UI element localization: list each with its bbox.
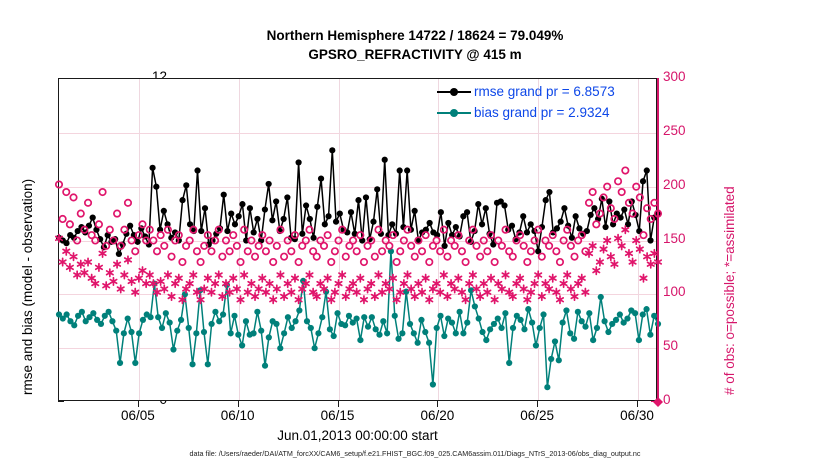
obs-assimilated-marker <box>88 274 94 281</box>
data-point <box>548 356 554 362</box>
data-point <box>373 326 379 332</box>
obs-assimilated-marker <box>637 245 643 252</box>
data-point <box>266 334 272 340</box>
obs-possible-marker <box>481 237 487 243</box>
data-point <box>460 330 466 336</box>
data-point <box>365 324 371 330</box>
data-point <box>353 315 359 321</box>
y-tick-label-right: 300 <box>663 69 723 84</box>
obs-assimilated-marker <box>415 280 421 287</box>
obs-possible-marker <box>604 183 610 189</box>
data-point <box>404 167 410 173</box>
obs-possible-marker <box>560 237 566 243</box>
data-point <box>216 318 222 324</box>
data-point <box>382 157 388 163</box>
data-point <box>121 330 127 336</box>
data-point <box>127 223 133 229</box>
obs-assimilated-marker <box>477 293 483 300</box>
data-point <box>262 363 268 369</box>
obs-assimilated-marker <box>339 271 345 278</box>
legend-item-rmse[interactable]: rmse grand pr = 6.8573 <box>437 82 615 101</box>
y-axis-label-left: rmse and bias (model - observation) <box>20 179 35 395</box>
obs-possible-marker <box>154 248 160 254</box>
data-point <box>561 205 567 211</box>
data-point <box>254 309 260 315</box>
obs-possible-marker <box>96 221 102 227</box>
data-point <box>106 309 112 315</box>
data-point <box>315 330 321 336</box>
obs-assimilated-marker <box>67 264 73 271</box>
obs-possible-marker <box>274 243 280 249</box>
data-point <box>186 325 192 331</box>
obs-possible-marker <box>557 259 563 265</box>
obs-assimilated-marker <box>644 253 650 260</box>
data-point <box>546 189 552 195</box>
data-point <box>296 307 302 313</box>
data-point <box>457 309 463 315</box>
data-point <box>533 342 539 348</box>
data-point <box>329 147 335 153</box>
obs-possible-marker <box>484 248 490 254</box>
data-point <box>647 237 653 243</box>
data-point <box>247 205 253 211</box>
obs-assimilated-marker <box>550 274 556 281</box>
data-point <box>136 330 142 336</box>
data-point <box>174 328 180 334</box>
obs-assimilated-marker <box>328 296 334 303</box>
obs-assimilated-marker <box>317 280 323 287</box>
data-point <box>296 159 302 165</box>
data-point <box>277 345 283 351</box>
obs-assimilated-marker <box>147 271 153 278</box>
data-point <box>79 309 85 315</box>
obs-assimilated-marker <box>78 260 84 267</box>
data-point <box>98 321 104 327</box>
obs-possible-marker <box>589 189 595 195</box>
obs-assimilated-marker <box>579 274 585 281</box>
obs-assimilated-marker <box>85 258 91 265</box>
data-point <box>537 325 543 331</box>
data-point <box>149 165 155 171</box>
obs-possible-marker <box>528 248 534 254</box>
obs-assimilated-marker <box>197 296 203 303</box>
obs-assimilated-marker <box>648 260 654 267</box>
obs-assimilated-marker <box>350 280 356 287</box>
y-axis-label-right: # of obs: o=possible; *=assimilated <box>722 186 737 395</box>
obs-possible-marker <box>270 259 276 265</box>
data-point <box>415 340 421 346</box>
obs-possible-marker <box>520 243 526 249</box>
obs-assimilated-marker <box>426 296 432 303</box>
obs-assimilated-marker <box>346 285 352 292</box>
x-tick-label: 06/05 <box>103 408 173 423</box>
x-tick-label: 06/15 <box>303 408 373 423</box>
obs-assimilated-marker <box>397 288 403 295</box>
data-point <box>310 235 316 241</box>
data-point <box>483 205 489 211</box>
obs-assimilated-marker <box>571 293 577 300</box>
obs-assimilated-marker <box>157 278 163 285</box>
data-point <box>594 325 600 331</box>
obs-assimilated-marker <box>401 280 407 287</box>
data-point <box>395 336 401 342</box>
data-point <box>449 320 455 326</box>
obs-possible-marker <box>412 253 418 259</box>
obs-assimilated-marker <box>484 288 490 295</box>
data-point <box>370 219 376 225</box>
obs-assimilated-marker <box>125 256 131 263</box>
obs-assimilated-marker <box>161 285 167 292</box>
data-point <box>576 225 582 231</box>
obs-assimilated-marker <box>128 278 134 285</box>
obs-possible-marker <box>539 253 545 259</box>
obs-assimilated-marker <box>212 280 218 287</box>
obs-possible-marker <box>452 243 458 249</box>
data-point <box>239 201 245 207</box>
obs-assimilated-marker <box>524 296 530 303</box>
obs-assimilated-marker <box>357 274 363 281</box>
obs-assimilated-marker <box>186 280 192 287</box>
obs-assimilated-marker <box>292 274 298 281</box>
data-point <box>273 321 279 327</box>
obs-possible-marker <box>150 237 156 243</box>
obs-possible-marker <box>70 194 76 200</box>
obs-possible-marker <box>245 248 251 254</box>
data-point <box>193 330 199 336</box>
data-point <box>498 325 504 331</box>
data-point <box>161 208 167 214</box>
data-point <box>363 194 369 200</box>
data-point <box>569 235 575 241</box>
obs-assimilated-marker <box>462 296 468 303</box>
data-point <box>475 201 481 207</box>
data-point <box>640 178 646 184</box>
data-point <box>487 326 493 332</box>
series-bias <box>56 248 661 390</box>
data-point <box>567 330 573 336</box>
obs-assimilated-marker <box>110 278 116 285</box>
data-point <box>453 224 459 230</box>
data-point <box>605 329 611 335</box>
obs-possible-marker <box>234 243 240 249</box>
data-point <box>90 215 96 221</box>
data-point <box>445 220 451 226</box>
data-point <box>147 314 153 320</box>
data-point <box>357 337 363 343</box>
obs-assimilated-marker <box>582 288 588 295</box>
data-point <box>502 310 508 316</box>
obs-assimilated-marker <box>419 288 425 295</box>
data-point <box>524 229 530 235</box>
data-point <box>640 311 646 317</box>
obs-assimilated-marker <box>59 258 65 265</box>
obs-assimilated-marker <box>568 285 574 292</box>
obs-assimilated-marker <box>139 267 145 274</box>
obs-assimilated-marker <box>470 271 476 278</box>
data-point <box>426 340 432 346</box>
obs-possible-marker <box>208 248 214 254</box>
data-point <box>212 309 218 315</box>
obs-assimilated-marker <box>270 296 276 303</box>
obs-possible-marker <box>99 189 105 195</box>
chart-title: Northern Hemisphere 14722 / 18624 = 79.0… <box>0 26 830 64</box>
obs-assimilated-marker <box>513 280 519 287</box>
obs-possible-marker <box>437 248 443 254</box>
data-point <box>64 311 70 317</box>
obs-assimilated-marker <box>353 288 359 295</box>
data-point <box>528 221 534 227</box>
obs-assimilated-marker <box>306 271 312 278</box>
series-layer <box>59 79 658 402</box>
data-point <box>167 320 173 326</box>
data-point <box>159 325 165 331</box>
data-point <box>322 221 328 227</box>
obs-possible-marker <box>372 253 378 259</box>
obs-assimilated-marker <box>343 293 349 300</box>
data-point <box>194 167 200 173</box>
obs-possible-marker <box>332 248 338 254</box>
obs-assimilated-marker <box>520 285 526 292</box>
data-point <box>598 294 604 300</box>
data-point <box>520 213 526 219</box>
obs-possible-marker <box>107 227 113 233</box>
data-point <box>304 318 310 324</box>
data-point <box>307 216 313 222</box>
obs-assimilated-marker <box>103 282 109 289</box>
data-point <box>262 206 268 212</box>
x-tick-label: 06/30 <box>602 408 672 423</box>
obs-assimilated-marker <box>433 280 439 287</box>
data-point <box>476 315 482 321</box>
data-point <box>140 317 146 323</box>
obs-possible-marker <box>85 200 91 206</box>
obs-assimilated-marker <box>499 285 505 292</box>
obs-assimilated-marker <box>430 285 436 292</box>
data-point <box>189 361 195 367</box>
obs-assimilated-marker <box>176 274 182 281</box>
obs-assimilated-marker <box>190 271 196 278</box>
data-point <box>179 197 185 203</box>
obs-assimilated-marker <box>629 258 635 265</box>
title-line-2: GPSRO_REFRACTIVITY @ 415 m <box>0 45 830 64</box>
obs-possible-marker <box>295 259 301 265</box>
obs-assimilated-marker <box>517 274 523 281</box>
obs-possible-marker <box>321 243 327 249</box>
obs-assimilated-marker <box>263 288 269 295</box>
obs-possible-marker <box>462 259 468 265</box>
obs-assimilated-marker <box>611 260 617 267</box>
data-point <box>128 329 134 335</box>
obs-assimilated-marker <box>281 293 287 300</box>
obs-assimilated-marker <box>92 280 98 287</box>
obs-assimilated-marker <box>386 285 392 292</box>
obs-possible-marker <box>56 181 62 187</box>
obs-assimilated-marker <box>241 271 247 278</box>
data-point <box>647 332 653 338</box>
obs-assimilated-marker <box>618 242 624 249</box>
data-point <box>624 315 630 321</box>
obs-possible-marker <box>473 243 479 249</box>
data-point <box>418 317 424 323</box>
data-point <box>178 317 184 323</box>
data-file-footer: data file: /Users/raeder/DAI/ATM_forcXX/… <box>0 449 830 458</box>
data-point <box>312 345 318 351</box>
data-point <box>201 329 207 335</box>
data-point <box>236 213 242 219</box>
obs-assimilated-marker <box>208 288 214 295</box>
data-point <box>250 330 256 336</box>
data-point <box>376 332 382 338</box>
obs-possible-marker <box>401 237 407 243</box>
obs-assimilated-marker <box>248 280 254 287</box>
data-point <box>281 330 287 336</box>
data-point <box>397 167 403 173</box>
data-point <box>380 318 386 324</box>
obs-assimilated-marker <box>237 296 243 303</box>
data-point <box>529 320 535 326</box>
obs-assimilated-marker <box>143 280 149 287</box>
data-point <box>644 167 650 173</box>
data-point <box>284 194 290 200</box>
bias-line-icon <box>437 107 471 119</box>
data-point <box>333 219 339 225</box>
obs-possible-marker <box>571 253 577 259</box>
obs-possible-marker <box>593 221 599 227</box>
data-point <box>289 325 295 331</box>
obs-possible-marker <box>640 232 646 238</box>
data-point <box>231 313 237 319</box>
obs-possible-marker <box>419 248 425 254</box>
obs-possible-marker <box>230 232 236 238</box>
obs-possible-marker <box>59 216 65 222</box>
obs-assimilated-marker <box>455 274 461 281</box>
obs-assimilated-marker <box>372 293 378 300</box>
obs-assimilated-marker <box>539 293 545 300</box>
data-point <box>334 310 340 316</box>
obs-assimilated-marker <box>437 288 443 295</box>
obs-possible-marker <box>263 248 269 254</box>
data-point <box>552 338 558 344</box>
obs-assimilated-marker <box>96 264 102 271</box>
data-point <box>202 205 208 211</box>
obs-assimilated-marker <box>597 258 603 265</box>
data-point <box>170 346 176 352</box>
data-point <box>266 181 272 187</box>
obs-assimilated-marker <box>234 285 240 292</box>
obs-assimilated-marker <box>553 288 559 295</box>
obs-possible-marker <box>303 237 309 243</box>
data-point <box>558 219 564 225</box>
data-point <box>483 337 489 343</box>
obs-possible-marker <box>179 259 185 265</box>
obs-possible-marker <box>350 237 356 243</box>
data-point <box>579 318 585 324</box>
data-point <box>113 328 119 334</box>
obs-possible-marker <box>128 237 134 243</box>
obs-possible-marker <box>197 259 203 265</box>
data-point <box>269 217 275 223</box>
x-axis-label: Jun.01,2013 00:00:00 start <box>0 428 715 443</box>
data-point <box>116 251 122 257</box>
y-tick-label-right: 50 <box>663 338 723 353</box>
data-point <box>613 317 619 323</box>
x-tick-label: 06/20 <box>402 408 472 423</box>
obs-assimilated-marker <box>441 271 447 278</box>
rmse-line-icon <box>437 86 471 98</box>
data-point <box>389 221 395 227</box>
obs-assimilated-marker <box>600 245 606 252</box>
data-point <box>384 330 390 336</box>
data-point <box>399 330 405 336</box>
data-point <box>573 213 579 219</box>
data-point <box>239 342 245 348</box>
obs-possible-marker <box>477 253 483 259</box>
obs-assimilated-marker <box>491 296 497 303</box>
y-tick-label-right: 150 <box>663 231 723 246</box>
obs-possible-marker <box>63 189 69 195</box>
obs-assimilated-marker <box>473 285 479 292</box>
y-tick-label-right: 0 <box>663 392 723 407</box>
obs-assimilated-marker <box>107 269 113 276</box>
obs-assimilated-marker <box>114 260 120 267</box>
obs-assimilated-marker <box>412 293 418 300</box>
data-point <box>281 216 287 222</box>
data-point <box>254 216 260 222</box>
data-point <box>540 311 546 317</box>
obs-possible-marker <box>324 232 330 238</box>
data-point <box>292 318 298 324</box>
obs-assimilated-marker <box>488 274 494 281</box>
series-rmse <box>56 147 661 257</box>
data-point <box>355 197 361 203</box>
obs-possible-marker <box>168 253 174 259</box>
obs-possible-marker <box>252 253 258 259</box>
data-point <box>155 314 161 320</box>
data-point <box>601 318 607 324</box>
obs-possible-marker <box>499 243 505 249</box>
data-point <box>198 228 204 234</box>
data-point <box>501 202 507 208</box>
data-point <box>273 198 279 204</box>
data-point <box>509 223 515 229</box>
legend-item-bias[interactable]: bias grand pr = 2.9324 <box>437 103 615 122</box>
data-point <box>232 221 238 227</box>
obs-assimilated-marker <box>165 271 171 278</box>
data-point <box>563 307 569 313</box>
obs-assimilated-marker <box>132 288 138 295</box>
data-point <box>479 221 485 227</box>
data-point <box>71 322 77 328</box>
obs-possible-marker <box>546 243 552 249</box>
data-point <box>543 197 549 203</box>
data-point <box>392 313 398 319</box>
data-point <box>228 330 234 336</box>
obs-possible-marker <box>125 200 131 206</box>
data-point <box>422 329 428 335</box>
obs-assimilated-marker <box>626 250 632 257</box>
obs-possible-marker <box>266 237 272 243</box>
obs-possible-marker <box>426 259 432 265</box>
obs-assimilated-marker <box>589 242 595 249</box>
obs-assimilated-marker <box>375 271 381 278</box>
obs-possible-marker <box>353 248 359 254</box>
right-axis-line <box>657 78 659 401</box>
obs-possible-marker <box>459 248 465 254</box>
obs-possible-marker <box>161 243 167 249</box>
obs-assimilated-marker <box>593 267 599 274</box>
obs-possible-marker <box>615 178 621 184</box>
obs-possible-marker <box>386 243 392 249</box>
